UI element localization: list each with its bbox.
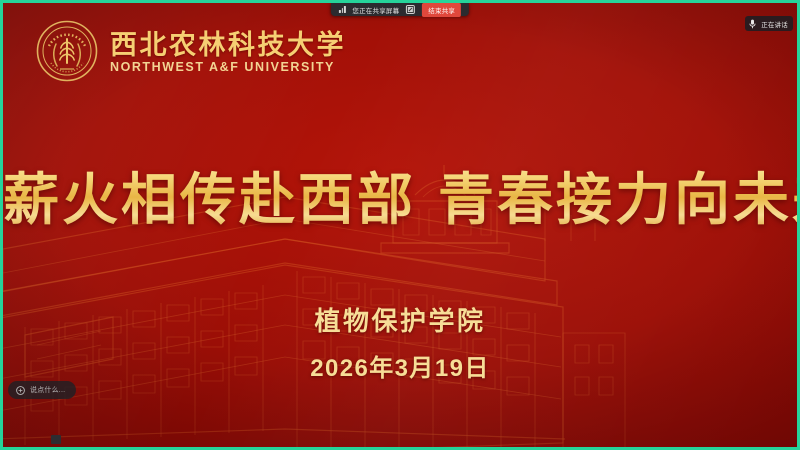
comment-icon — [15, 385, 25, 395]
college-name: 植物保护学院 — [3, 301, 797, 338]
speaking-status-badge: 正在讲话 — [745, 16, 793, 31]
slide-title: 薪火相传赴西部青春接力向未来 — [3, 155, 797, 236]
slide-title-part1: 薪火相传赴西部 — [3, 168, 416, 231]
university-seal-icon — [36, 20, 98, 82]
comment-input-placeholder[interactable]: 说点什么... — [30, 385, 65, 395]
taskbar-corner-chip[interactable] — [51, 435, 61, 444]
screen-share-toolbar[interactable]: 您正在共享屏幕 结束共享 — [331, 3, 469, 16]
comment-input-pill[interactable]: 说点什么... — [8, 381, 76, 399]
slide-date: 2026年3月19日 — [3, 348, 797, 383]
annotate-icon[interactable] — [406, 5, 415, 14]
speaking-status-label: 正在讲话 — [761, 19, 788, 29]
share-status-label: 您正在共享屏幕 — [352, 5, 399, 15]
university-wordmark: 西北农林科技大学 NORTHWEST A&F UNIVERSITY — [110, 28, 346, 75]
presentation-slide: 西北农林科技大学 NORTHWEST A&F UNIVERSITY 薪火相传赴西… — [3, 3, 797, 447]
slide-title-part2: 青春接力向未来 — [438, 168, 797, 231]
university-name-en: NORTHWEST A&F UNIVERSITY — [110, 61, 346, 75]
university-name-cn: 西北农林科技大学 — [110, 31, 346, 60]
signal-bars-icon — [339, 6, 346, 13]
shared-screen-frame: 西北农林科技大学 NORTHWEST A&F UNIVERSITY 薪火相传赴西… — [0, 0, 800, 450]
university-branding: 西北农林科技大学 NORTHWEST A&F UNIVERSITY — [36, 20, 346, 82]
microphone-icon — [748, 18, 757, 29]
end-share-button[interactable]: 结束共享 — [422, 3, 461, 17]
